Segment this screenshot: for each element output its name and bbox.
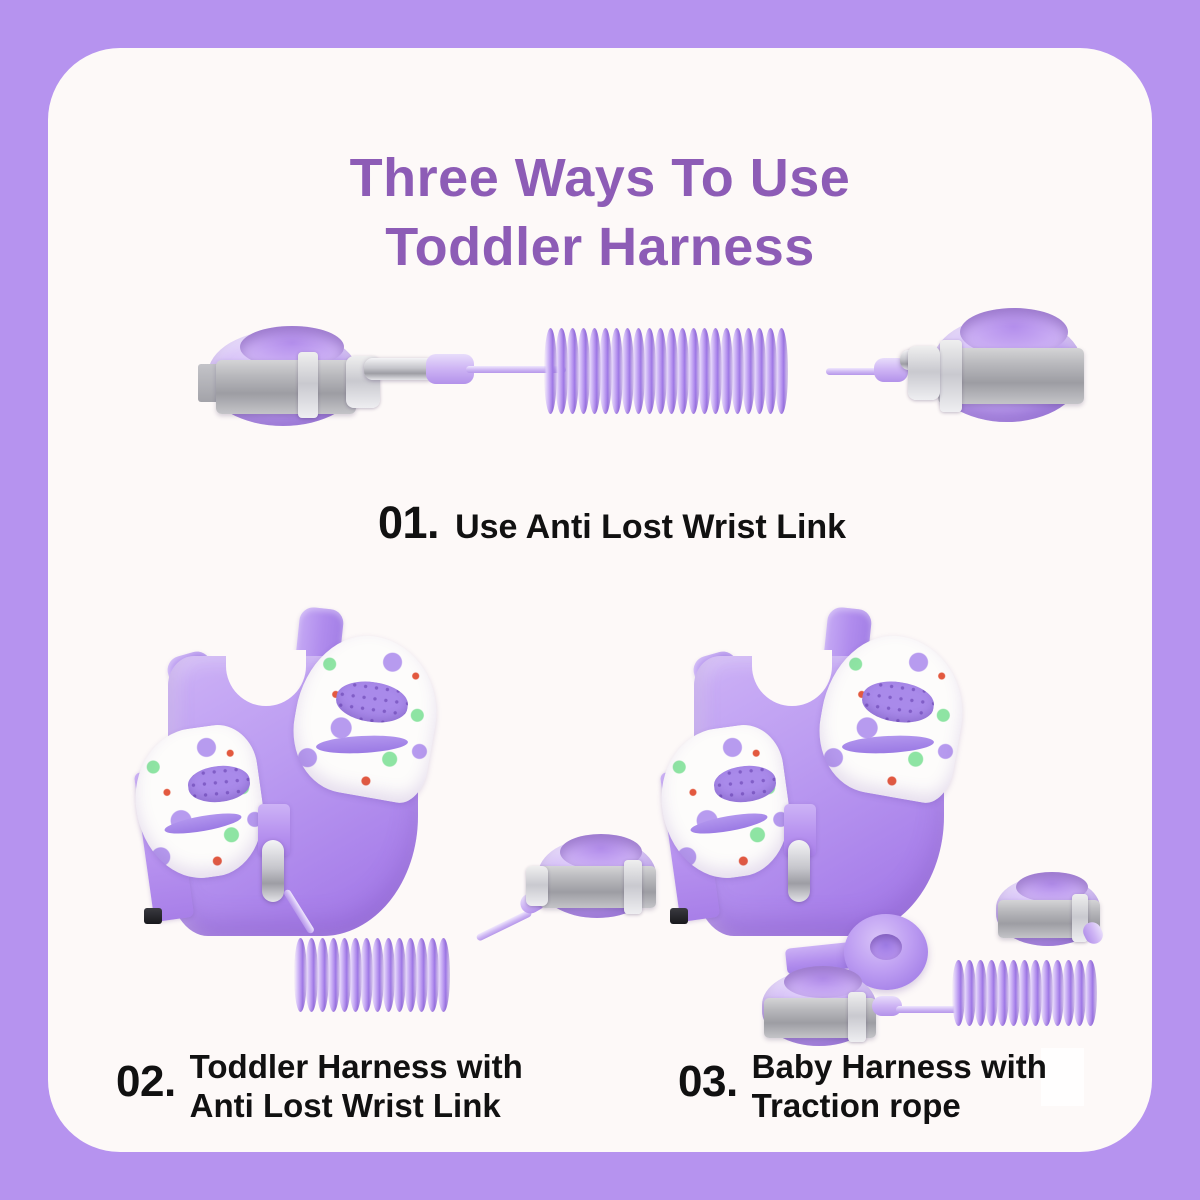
caption-text-03: Baby Harness with Traction rope: [752, 1048, 1047, 1126]
page-title-line-2: Toddler Harness: [48, 213, 1152, 282]
coiled-cable: [952, 960, 1128, 1026]
caption-text-01: Use Anti Lost Wrist Link: [455, 507, 846, 547]
traction-rope-roll-center: [870, 934, 902, 960]
metal-buckle: [624, 860, 642, 914]
coiled-cable: [294, 938, 484, 1012]
metal-d-ring: [526, 866, 548, 906]
metal-buckle: [298, 352, 318, 418]
outer-purple-border: Three Ways To Use Toddler Harness: [0, 0, 1200, 1200]
caption-item-01: 01. Use Anti Lost Wrist Link: [378, 500, 846, 547]
caption-item-03: 03. Baby Harness with Traction rope: [678, 1048, 1047, 1126]
reflective-strap: [216, 360, 356, 414]
caption-number-03: 03.: [678, 1048, 738, 1104]
coiled-cable: [544, 328, 844, 414]
infographic-card: Three Ways To Use Toddler Harness: [48, 48, 1152, 1152]
page-title-line-1: Three Ways To Use: [48, 144, 1152, 213]
wrist-cuff-left: [198, 308, 373, 438]
harness-carabiner: [788, 840, 810, 902]
wrist-cuff-right: [914, 298, 1094, 438]
wrist-cuff: [528, 826, 664, 932]
caption-item-02: 02. Toddler Harness with Anti Lost Wrist…: [116, 1048, 523, 1126]
caption-text-02: Toddler Harness with Anti Lost Wrist Lin…: [190, 1048, 523, 1126]
cable-lower-run: [896, 1006, 958, 1013]
wrist-cuff-upper: [988, 866, 1108, 958]
harness-carabiner: [262, 840, 284, 902]
product-photo-harness-wrist-link: [138, 608, 698, 1038]
product-photo-wrist-link: [158, 280, 1058, 480]
wrist-cuff-lower: [754, 960, 884, 1060]
image-artifact-patch: [1041, 1048, 1084, 1106]
metal-d-ring: [908, 346, 940, 400]
metal-buckle: [940, 340, 962, 412]
caption-number-02: 02.: [116, 1048, 176, 1104]
product-photo-harness-traction-rope: [658, 608, 1138, 1038]
coil-ring: [1084, 960, 1097, 1026]
coil-ring: [775, 328, 788, 414]
caption-number-01: 01.: [378, 500, 439, 545]
strap-adjuster-bottom: [670, 908, 688, 924]
page-title: Three Ways To Use Toddler Harness: [48, 144, 1152, 282]
strap-adjuster-bottom: [144, 908, 162, 924]
baby-harness-vest: [672, 608, 982, 978]
coil-ring: [437, 938, 450, 1012]
metal-buckle: [848, 992, 866, 1042]
cable-to-cuff: [476, 909, 533, 942]
